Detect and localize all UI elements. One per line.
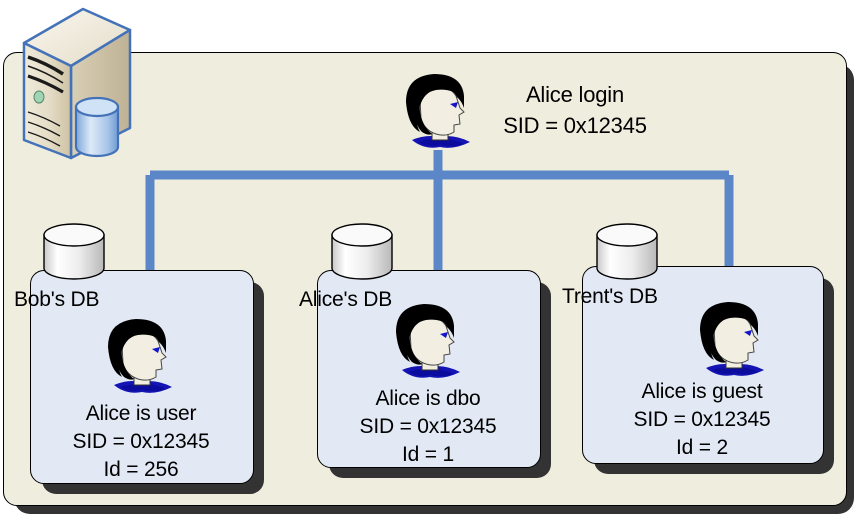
db-info-line: SID = 0x12345 [582, 406, 822, 434]
db-label-trents: Trent's DB [562, 285, 658, 309]
diagram-canvas: Alice login SID = 0x12345 [0, 0, 864, 529]
database-cylinder-icon [41, 223, 107, 286]
db-info-line: Alice is guest [582, 378, 822, 406]
db-info-line: Id = 256 [30, 456, 252, 484]
db-info-line: Alice is user [30, 400, 252, 428]
db-info-line: SID = 0x12345 [30, 428, 252, 456]
database-cylinder-icon [329, 223, 395, 286]
login-line-1: Alice login [455, 79, 695, 110]
server-tower-icon [8, 6, 138, 166]
alice-login-label: Alice login SID = 0x12345 [455, 79, 695, 141]
db-info-line: SID = 0x12345 [317, 413, 539, 441]
database-cylinder-icon [594, 223, 660, 286]
db-user-face-icon-bobs [100, 313, 184, 408]
db-user-face-icon-trents [692, 296, 776, 391]
db-label-bobs: Bob's DB [14, 288, 99, 312]
db-info-line: Id = 2 [582, 434, 822, 462]
db-info-bobs: Alice is user SID = 0x12345 Id = 256 [30, 400, 252, 484]
login-line-2: SID = 0x12345 [455, 110, 695, 141]
db-info-line: Id = 1 [317, 441, 539, 469]
db-label-alices: Alice's DB [299, 288, 392, 312]
db-info-trents: Alice is guest SID = 0x12345 Id = 2 [582, 378, 822, 462]
db-user-face-icon-alices [388, 298, 472, 393]
db-info-line: Alice is dbo [317, 385, 539, 413]
db-info-alices: Alice is dbo SID = 0x12345 Id = 1 [317, 385, 539, 469]
